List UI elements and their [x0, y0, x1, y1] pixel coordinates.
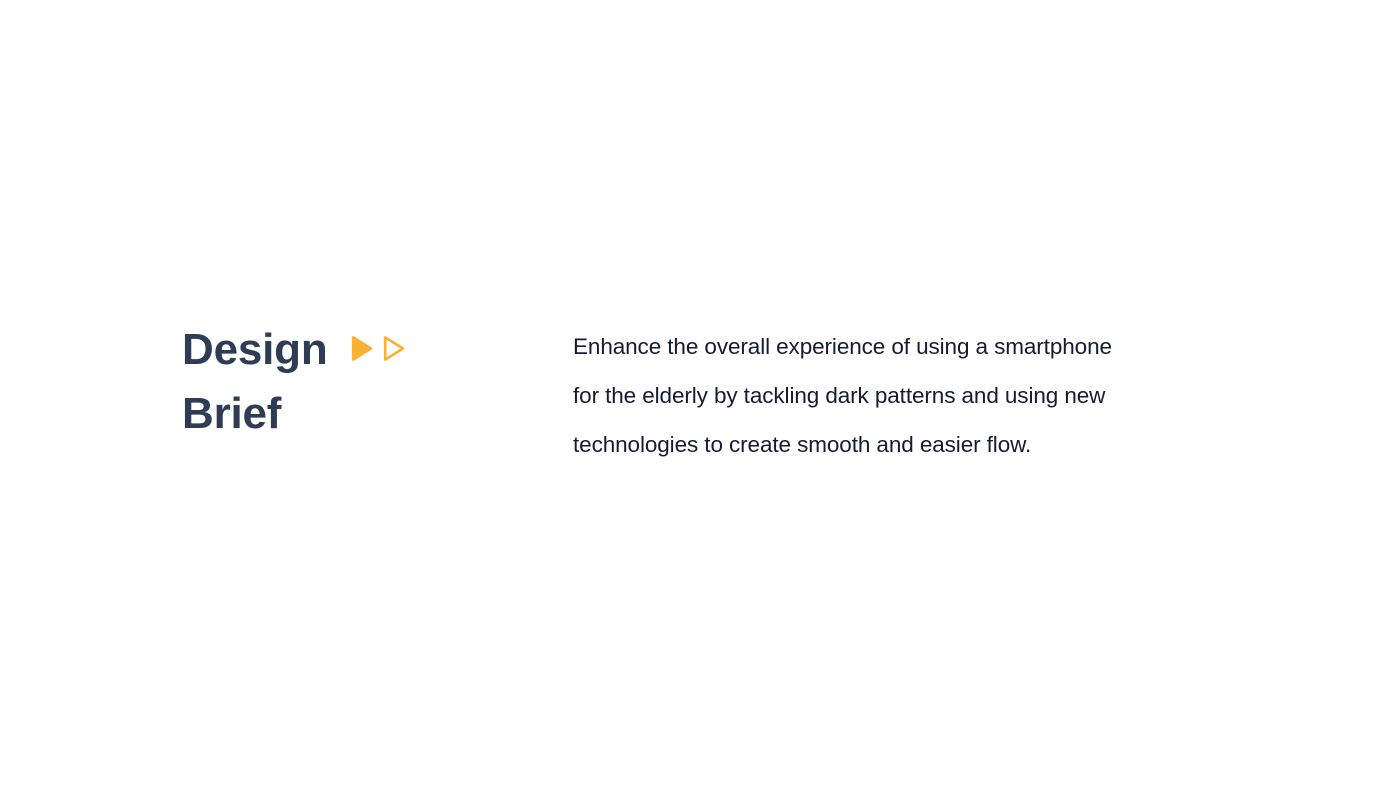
brief-line-3: technologies to create smooth and easier… [573, 420, 1263, 469]
brief-line-1: Enhance the overall experience of using … [573, 322, 1263, 371]
arrow-decoration-group [350, 335, 406, 367]
heading-line-primary: Design [182, 318, 522, 382]
heading-line-secondary: Brief [182, 382, 522, 446]
slide-canvas: Design Brief Enhance the overall experie… [0, 0, 1400, 788]
brief-paragraph: Enhance the overall experience of using … [573, 322, 1263, 469]
triangle-right-filled-icon [350, 335, 374, 367]
page-title: Design [182, 318, 328, 382]
section-heading: Design Brief [182, 318, 522, 446]
page-title-continuation: Brief [182, 382, 281, 446]
triangle-right-outline-icon [382, 335, 406, 367]
brief-line-2: for the elderly by tackling dark pattern… [573, 371, 1263, 420]
